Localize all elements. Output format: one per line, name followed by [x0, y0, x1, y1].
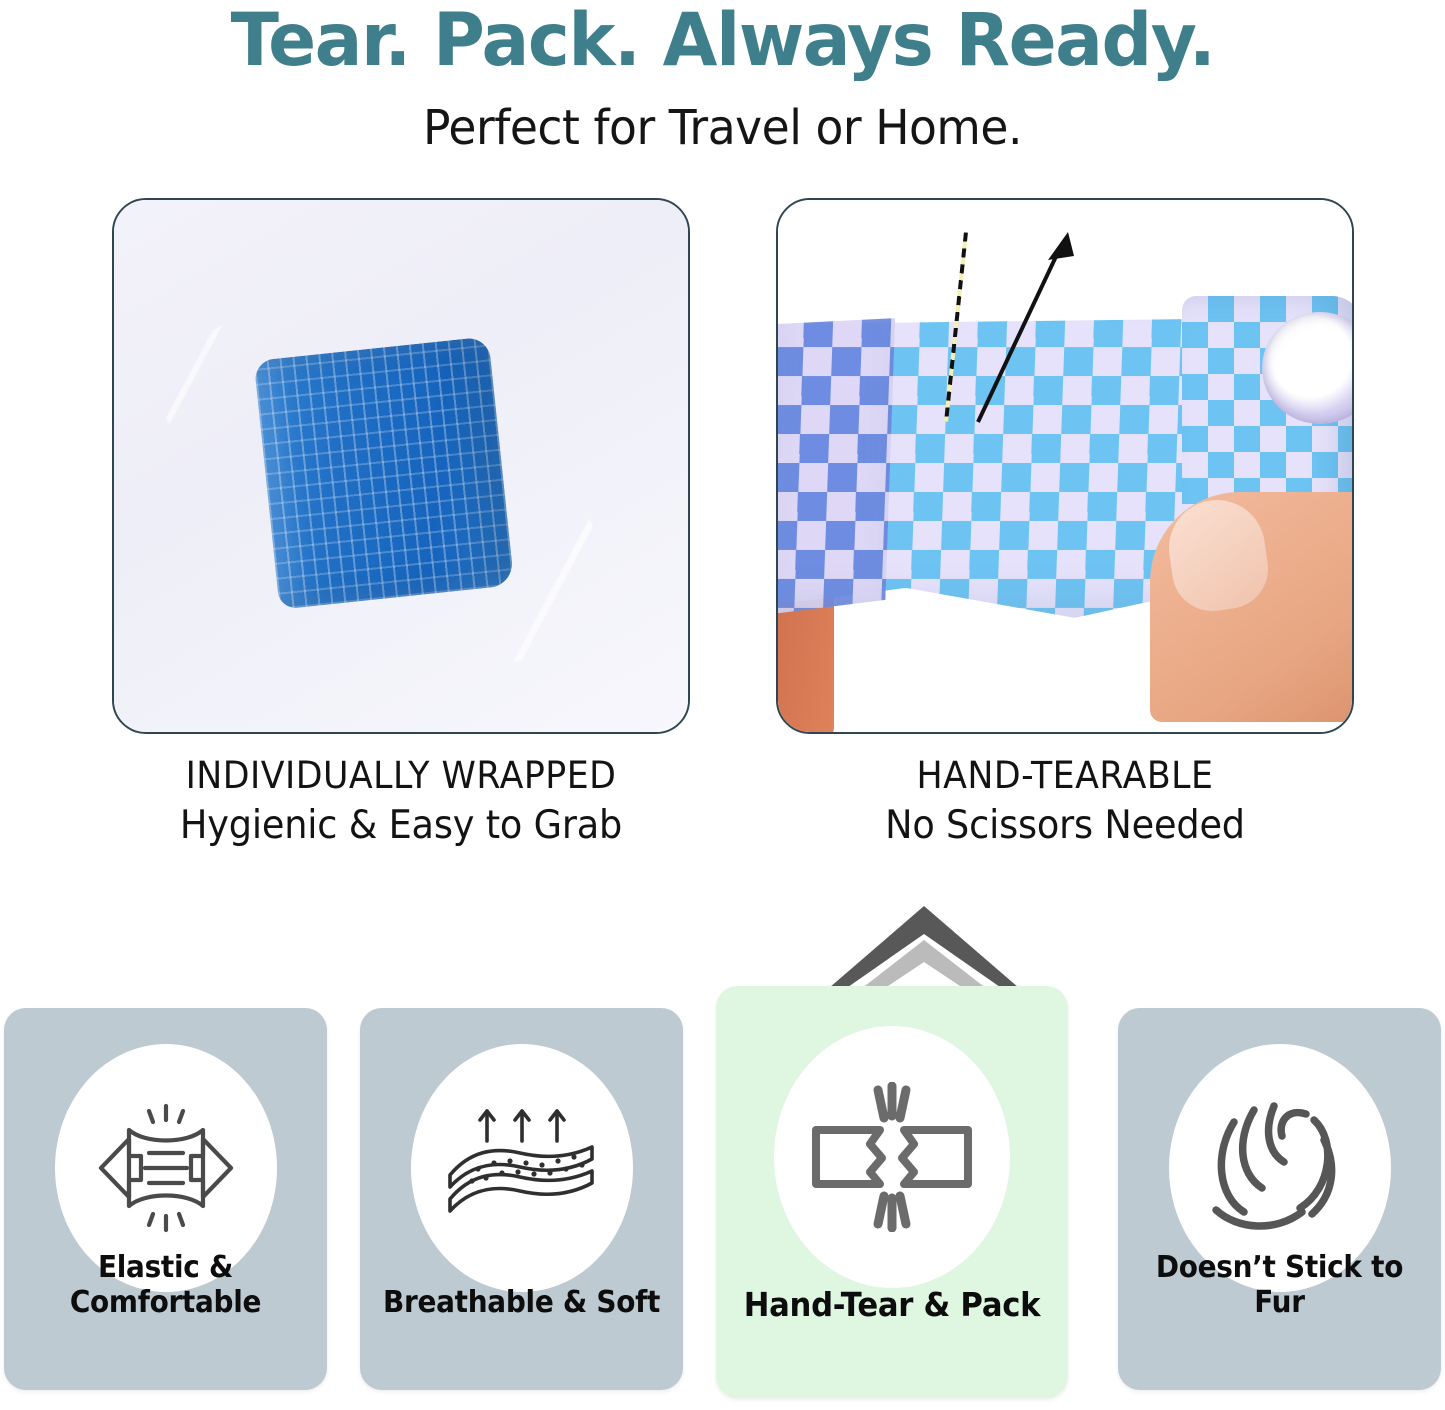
tear-photo-background	[778, 200, 1352, 732]
caption-subtitle: Hygienic & Easy to Grab	[129, 800, 672, 852]
feature-icon-circle	[774, 1026, 1010, 1288]
individually-wrapped-photo	[112, 198, 690, 734]
feature-label: Hand-Tear & Pack	[728, 1285, 1055, 1324]
photo-captions: INDIVIDUALLY WRAPPED Hygienic & Easy to …	[0, 752, 1445, 882]
breathable-fabric-icon	[442, 1103, 602, 1233]
caption-title: INDIVIDUALLY WRAPPED	[129, 752, 672, 800]
feature-card-no-stick[interactable]: Doesn’t Stick to Fur	[1118, 1008, 1441, 1390]
feature-label: Doesn’t Stick to Fur	[1129, 1250, 1429, 1320]
plastic-wrapper-edge	[156, 258, 630, 692]
feature-icon-circle	[411, 1044, 633, 1292]
feature-card-row: Elastic & Comfortable	[0, 900, 1445, 1410]
fur-swirl-icon	[1210, 1096, 1350, 1241]
hand-tearable-photo	[776, 198, 1354, 734]
caption-title: HAND-TEARABLE	[793, 752, 1336, 800]
tearing-tape-icon	[808, 1082, 976, 1232]
feature-label: Breathable & Soft	[371, 1285, 671, 1320]
tear-direction-arrow	[964, 226, 1094, 436]
caption-individually-wrapped: INDIVIDUALLY WRAPPED Hygienic & Easy to …	[112, 752, 690, 852]
feature-label: Elastic & Comfortable	[15, 1250, 315, 1320]
caption-hand-tearable: HAND-TEARABLE No Scissors Needed	[776, 752, 1354, 852]
stretch-arrows-icon	[91, 1098, 241, 1238]
feature-card-elastic[interactable]: Elastic & Comfortable	[4, 1008, 327, 1390]
wrapped-photo-background	[114, 200, 688, 732]
caption-subtitle: No Scissors Needed	[793, 800, 1336, 852]
feature-card-hand-tear[interactable]: Hand-Tear & Pack	[716, 986, 1068, 1398]
page-title: Tear. Pack. Always Ready.	[22, 0, 1424, 80]
checkered-tape-strip-shadowed	[776, 318, 895, 618]
photo-row	[0, 198, 1445, 738]
page-subtitle: Perfect for Travel or Home.	[36, 80, 1409, 154]
header: Tear. Pack. Always Ready. Perfect for Tr…	[0, 0, 1445, 154]
feature-card-breathable[interactable]: Breathable & Soft	[360, 1008, 683, 1390]
